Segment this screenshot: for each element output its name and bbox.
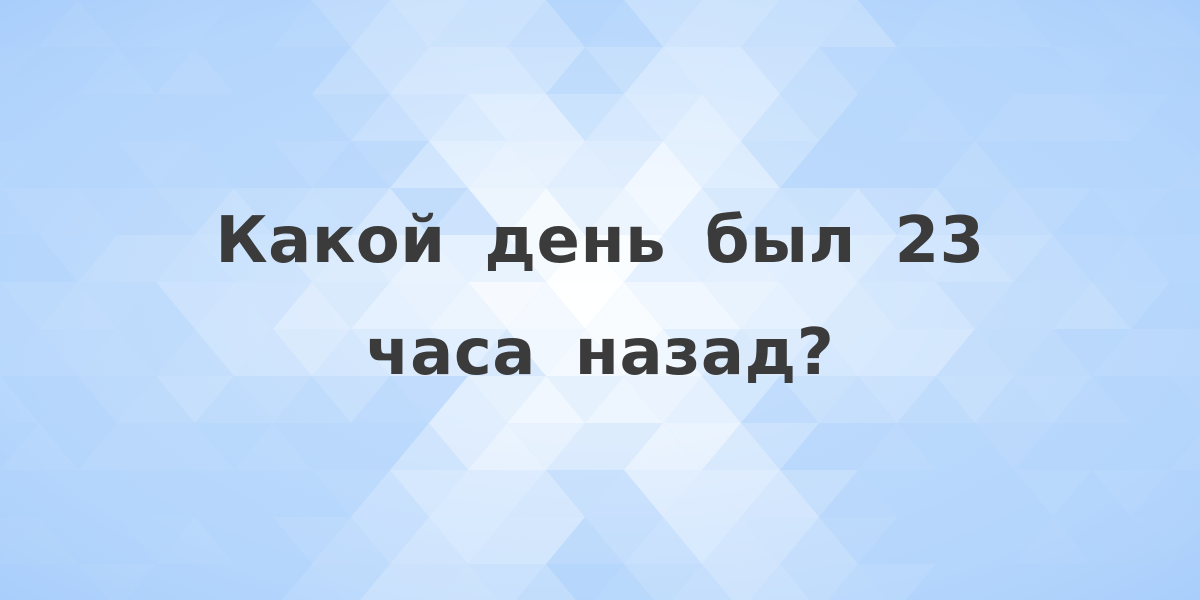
headline-block: Какой день был 23 часа назад?: [0, 0, 1200, 600]
headline-line-2: часа назад?: [366, 297, 835, 409]
headline-line-1: Какой день был 23: [215, 185, 984, 297]
hero-banner: Какой день был 23 часа назад?: [0, 0, 1200, 600]
